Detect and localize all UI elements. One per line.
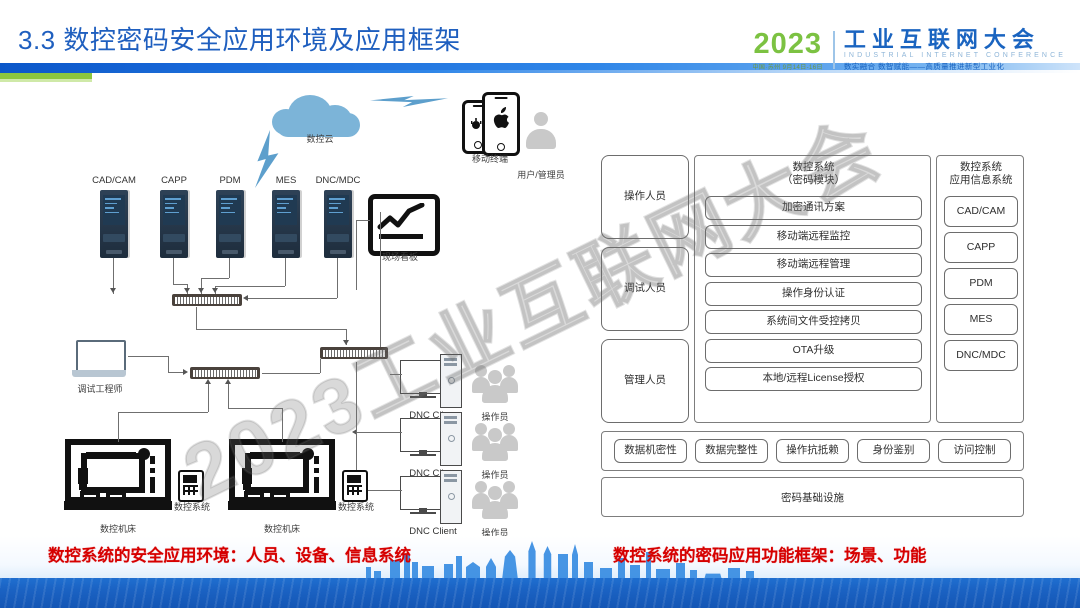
wire	[173, 284, 187, 285]
logo-text-block: 工业互联网大会 INDUSTRIAL INTERNET CONFERENCE 数…	[844, 28, 1066, 72]
server-label-pdm: PDM	[200, 175, 260, 186]
network-switch-icon	[190, 367, 260, 379]
info-title-line-1: 数控系统	[937, 161, 1025, 174]
wire	[228, 382, 229, 408]
cnc-crypto-module-panel: 数控系统 （密码模块） 加密通讯方案 移动端远程监控 移动端远程管理 操作身份认…	[694, 155, 931, 423]
slide-canvas: 3.3 数控密码安全应用环境及应用框架 2023 中国·苏州 9月14日-16日…	[0, 0, 1080, 608]
info-item-pdm[interactable]: PDM	[944, 268, 1018, 299]
network-switch-icon	[320, 347, 388, 359]
wire	[390, 374, 402, 375]
wire	[173, 258, 174, 284]
wire	[380, 212, 381, 358]
footer-water-band	[0, 578, 1080, 608]
caption-right: 数控系统的密码应用功能框架：场景、功能	[613, 542, 927, 566]
operator-group-icon	[474, 476, 516, 518]
caption-left: 数控系统的安全应用环境：人员、设备、信息系统	[48, 542, 411, 566]
application-info-systems-panel: 数控系统 应用信息系统 CAD/CAM CAPP PDM MES DNC/MDC	[936, 155, 1024, 423]
service-non-repudiation[interactable]: 操作抗抵赖	[776, 439, 849, 463]
core-title-line-2: （密码模块）	[695, 174, 932, 187]
wire	[320, 359, 321, 373]
server-label-dnc-mdc: DNC/MDC	[305, 175, 371, 186]
server-rack	[216, 190, 244, 258]
slide-footer: 数控系统的安全应用环境：人员、设备、信息系统 数控系统的密码应用功能框架：场景、…	[0, 536, 1080, 608]
logo-divider	[833, 31, 835, 69]
dnc-client-pc	[400, 354, 462, 406]
wire	[118, 412, 208, 413]
logo-year: 2023	[753, 30, 822, 59]
arrow-icon	[212, 288, 218, 293]
cnc-system-label: 数控系统	[332, 500, 380, 513]
arrow-icon	[183, 369, 188, 375]
cloud-label: 数控云	[290, 132, 350, 145]
info-item-cad-cam[interactable]: CAD/CAM	[944, 196, 1018, 227]
wire	[229, 258, 230, 278]
field-dashboard-label: 现场看板	[369, 250, 431, 263]
security-environment-diagram: 数控云 移动终端	[0, 82, 600, 532]
wire	[215, 286, 285, 287]
core-item-file-copy-control[interactable]: 系统间文件受控拷贝	[705, 310, 922, 334]
conference-logo: 2023 中国·苏州 9月14日-16日 工业互联网大会 INDUSTRIAL …	[753, 26, 1066, 74]
wire	[356, 220, 370, 221]
roles-column: 操作人员 调试人员 管理人员	[601, 155, 689, 423]
crypto-infrastructure-row: 密码基础设施	[601, 477, 1024, 517]
arrow-icon	[225, 379, 231, 384]
operator-group-icon	[474, 360, 516, 402]
mobile-terminal-icon	[462, 92, 520, 150]
wire	[282, 408, 283, 442]
arrow-icon	[243, 295, 248, 301]
role-box-operator: 操作人员	[601, 155, 689, 239]
wire	[128, 356, 168, 357]
network-switch-icon	[172, 294, 242, 306]
wire	[337, 258, 338, 298]
cnc-control-panel-icon	[178, 470, 204, 502]
cnc-machine-label: 数控机床	[252, 522, 312, 535]
wire	[201, 278, 229, 279]
core-item-identity-auth[interactable]: 操作身份认证	[705, 282, 922, 306]
logo-event-date: 中国·苏州 9月14日-16日	[753, 62, 823, 71]
logo-slogan: 数实融合 数智赋能——高质量推进新型工业化	[844, 62, 1066, 73]
logo-conference-cn: 工业互联网大会	[844, 28, 1066, 51]
server-label-cad-cam: CAD/CAM	[84, 175, 144, 186]
role-box-manager: 管理人员	[601, 339, 689, 423]
security-services-row: 数据机密性 数据完整性 操作抗抵赖 身份鉴别 访问控制	[601, 431, 1024, 471]
core-item-encrypted-comm[interactable]: 加密通讯方案	[705, 196, 922, 220]
wire	[168, 356, 169, 372]
info-panel-title: 数控系统 应用信息系统	[937, 161, 1025, 187]
arrow-icon	[110, 288, 116, 293]
core-item-mobile-monitoring[interactable]: 移动端远程监控	[705, 225, 922, 249]
arrow-icon	[184, 288, 190, 293]
info-system-list: CAD/CAM CAPP PDM MES DNC/MDC	[944, 196, 1018, 376]
core-feature-list: 加密通讯方案 移动端远程监控 移动端远程管理 操作身份认证 系统间文件受控拷贝 …	[705, 196, 922, 396]
core-item-mobile-management[interactable]: 移动端远程管理	[705, 253, 922, 277]
wire	[196, 329, 346, 330]
wire	[262, 373, 320, 374]
core-title-line-1: 数控系统	[695, 161, 932, 174]
wire	[285, 258, 286, 286]
cnc-system-label: 数控系统	[168, 500, 216, 513]
wire	[356, 362, 357, 432]
wire	[196, 307, 197, 329]
info-item-capp[interactable]: CAPP	[944, 232, 1018, 263]
core-panel-title: 数控系统 （密码模块）	[695, 161, 932, 187]
logo-conference-en: INDUSTRIAL INTERNET CONFERENCE	[844, 51, 1066, 62]
service-access-control[interactable]: 访问控制	[938, 439, 1011, 463]
arrow-icon	[205, 379, 211, 384]
arrow-icon	[198, 288, 204, 293]
laptop-icon	[72, 340, 126, 378]
cnc-machine-label: 数控机床	[88, 522, 148, 535]
user-admin-icon	[524, 112, 558, 150]
service-data-confidentiality[interactable]: 数据机密性	[614, 439, 687, 463]
user-admin-label: 用户/管理员	[504, 168, 578, 181]
engineer-label: 调试工程师	[66, 382, 134, 395]
info-title-line-2: 应用信息系统	[937, 174, 1025, 187]
cnc-machine-icon	[64, 438, 174, 518]
server-label-capp: CAPP	[144, 175, 204, 186]
role-box-debugger: 调试人员	[601, 247, 689, 331]
dnc-client-pc	[400, 412, 462, 464]
service-data-integrity[interactable]: 数据完整性	[695, 439, 768, 463]
server-rack	[324, 190, 352, 258]
core-item-ota-upgrade[interactable]: OTA升级	[705, 339, 922, 363]
dnc-client-pc	[400, 470, 462, 522]
wire	[118, 412, 119, 442]
core-item-license-auth[interactable]: 本地/远程License授权	[705, 367, 922, 391]
page-title: 3.3 数控密码安全应用环境及应用框架	[18, 20, 461, 57]
service-identity-auth[interactable]: 身份鉴别	[857, 439, 930, 463]
wire	[356, 220, 357, 290]
mobile-terminal-label: 移动终端	[458, 152, 522, 165]
server-rack	[272, 190, 300, 258]
wire	[168, 372, 184, 373]
arrow-icon	[343, 340, 349, 345]
logo-year-block: 2023 中国·苏州 9月14日-16日	[753, 30, 833, 71]
server-rack	[160, 190, 188, 258]
cnc-control-panel-icon	[342, 470, 368, 502]
wire	[228, 408, 282, 409]
crypto-application-framework: 操作人员 调试人员 管理人员 数控系统 （密码模块） 加密通讯方案 移动端远程监…	[601, 155, 1039, 522]
server-rack	[100, 190, 128, 258]
field-dashboard-icon	[368, 194, 440, 256]
lightning-bolt-icon	[370, 96, 448, 107]
info-item-dnc-mdc[interactable]: DNC/MDC	[944, 340, 1018, 371]
wire	[356, 432, 402, 433]
cnc-machine-icon	[228, 438, 338, 518]
info-item-mes[interactable]: MES	[944, 304, 1018, 335]
operator-group-icon	[474, 418, 516, 460]
wire	[247, 298, 337, 299]
wire	[208, 382, 209, 412]
